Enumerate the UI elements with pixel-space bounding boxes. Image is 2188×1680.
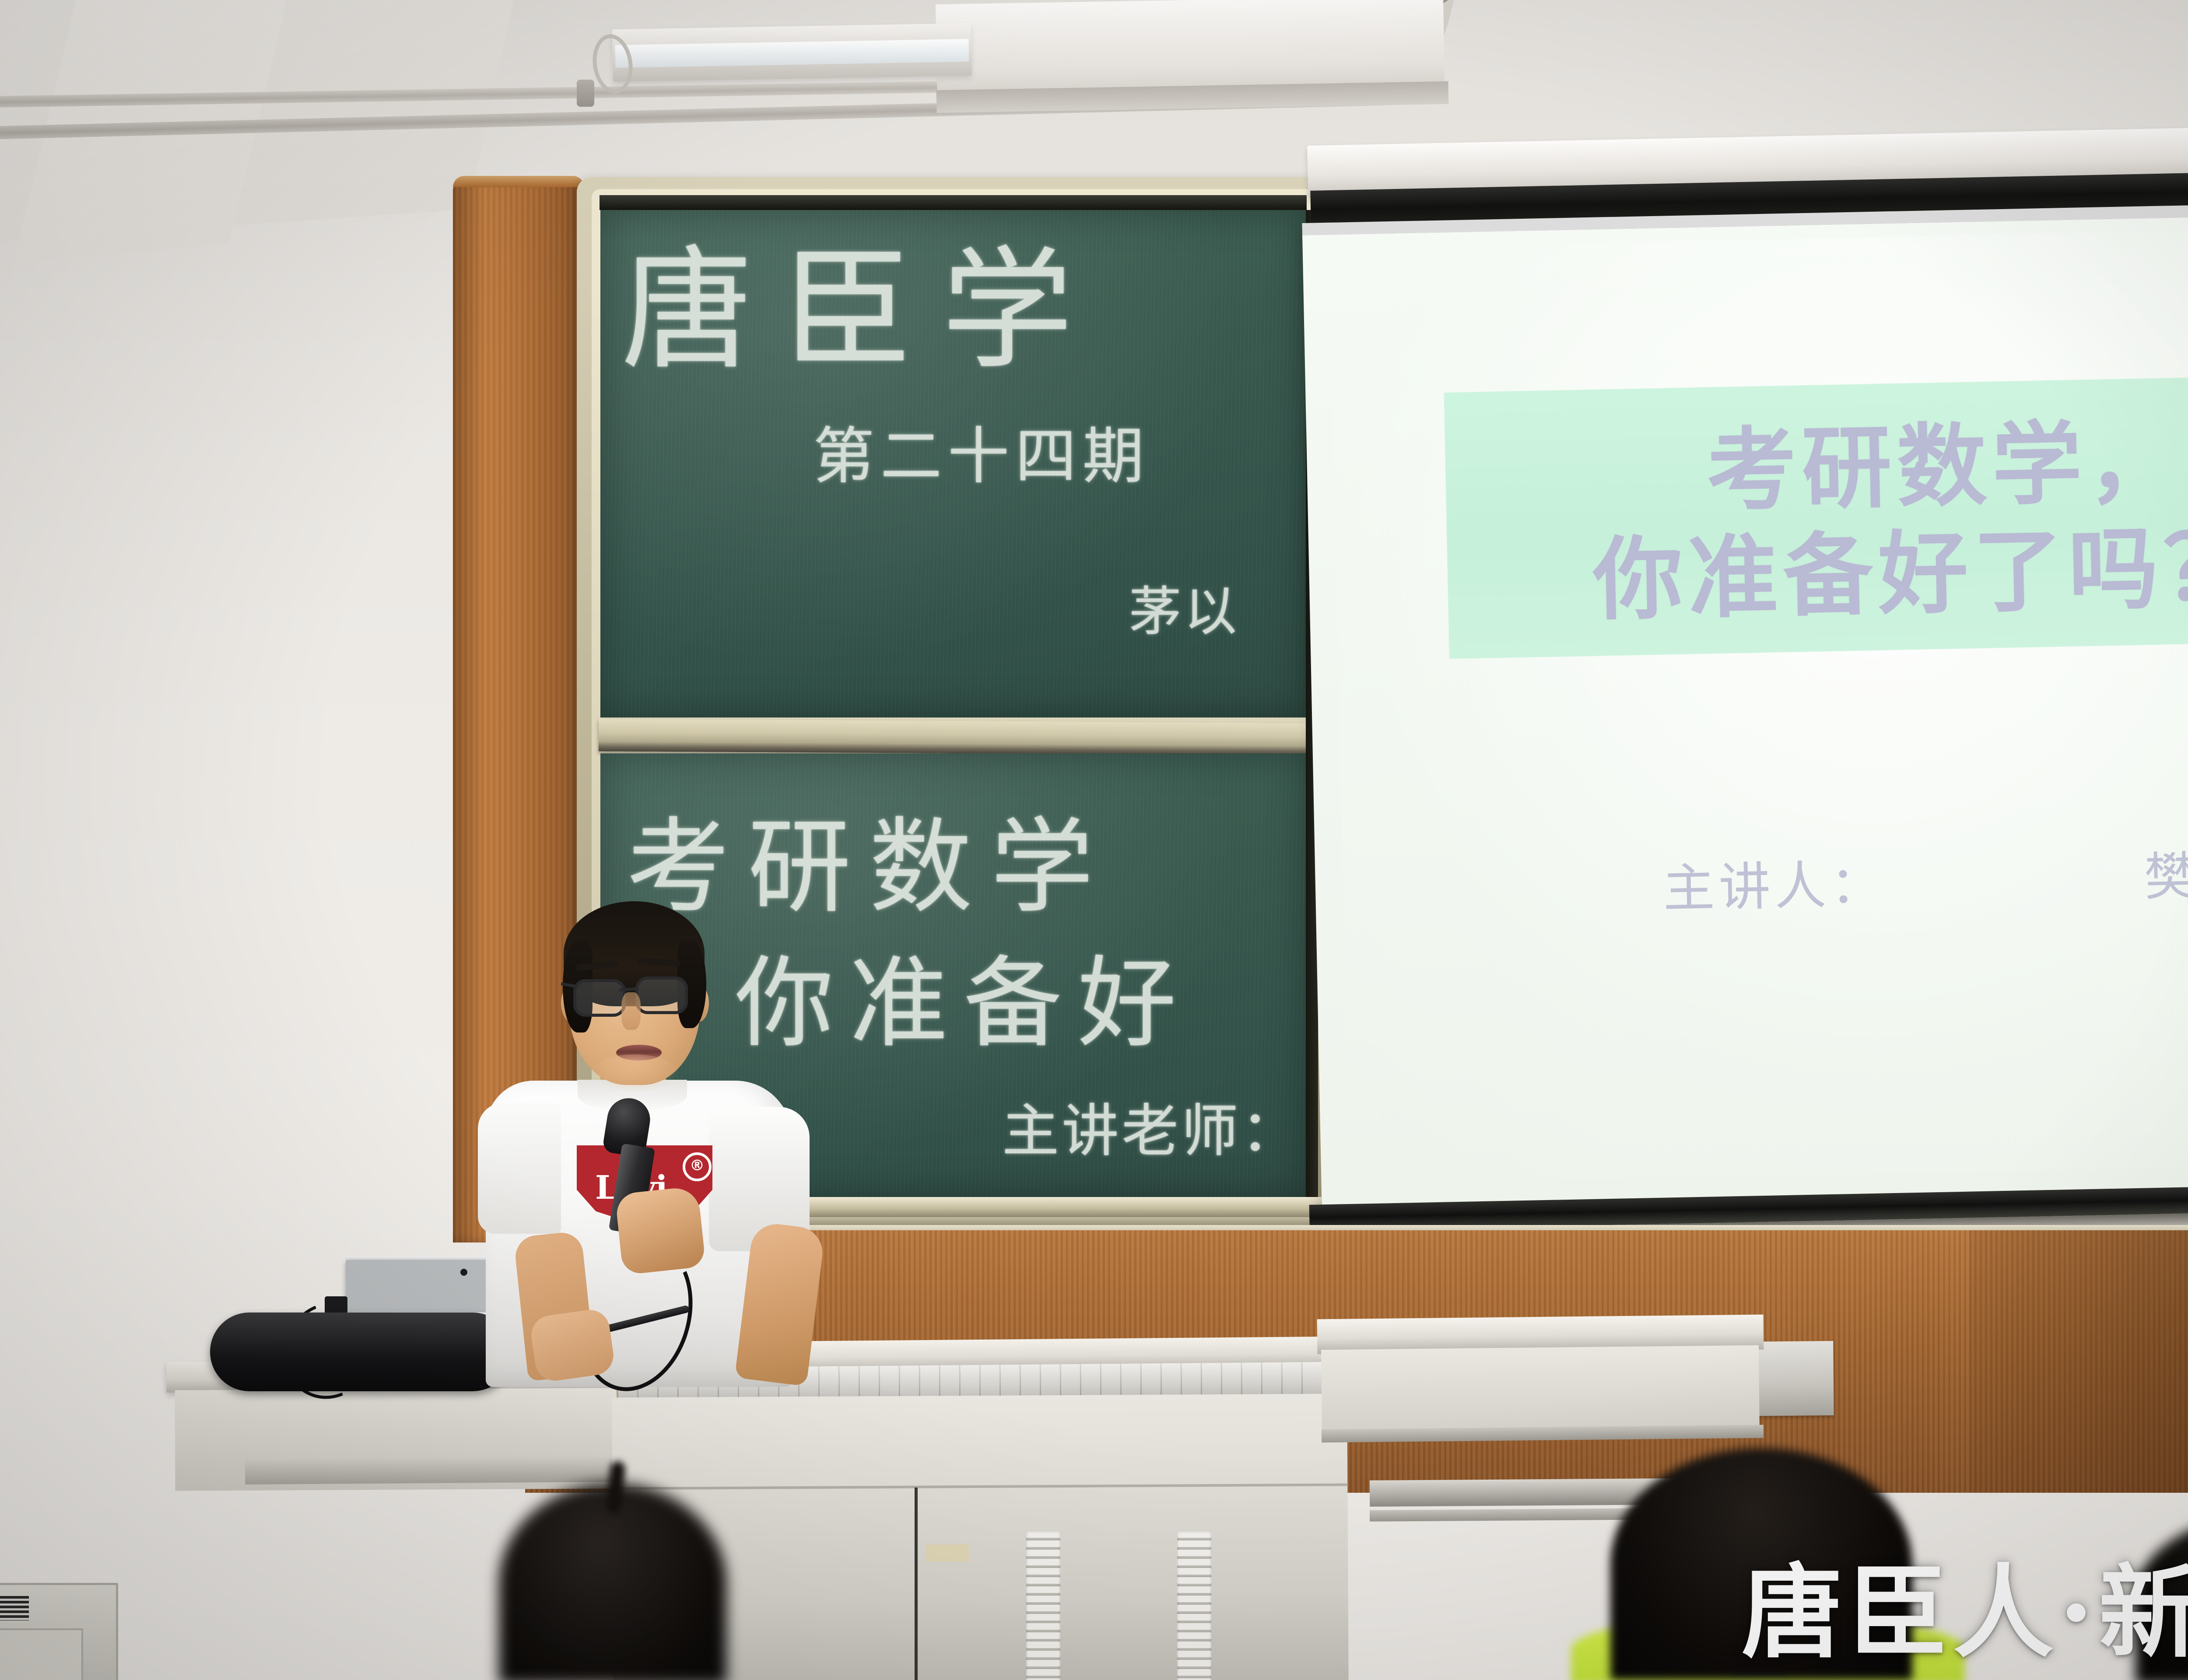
wainscot-shadow bbox=[1969, 1230, 2188, 1493]
presenter-hand-left bbox=[529, 1307, 616, 1383]
usb-dongle bbox=[325, 1296, 347, 1314]
registered-trademark-icon: ® bbox=[683, 1152, 712, 1181]
chalk-title: 唐臣学 bbox=[621, 245, 1102, 376]
podium-sticker bbox=[926, 1544, 969, 1562]
left-desk-rail bbox=[245, 1456, 621, 1484]
chalk-venue-text: 茅以 bbox=[1129, 569, 1239, 645]
chalkboard-middle-ledge bbox=[599, 719, 1308, 756]
presenter-nose bbox=[621, 992, 641, 1030]
cabinet-grille bbox=[0, 1596, 29, 1620]
chalk-speaker-label: 主讲老师： bbox=[1002, 1085, 1301, 1167]
cabinet-door[interactable] bbox=[0, 1628, 83, 1680]
podium-vent-left bbox=[1026, 1531, 1060, 1680]
projector-light-glow bbox=[1330, 225, 2188, 1184]
slide-speaker-label: 主讲人： bbox=[1662, 842, 1886, 921]
laptop-bag bbox=[210, 1312, 512, 1391]
chalkboard-top-lip bbox=[600, 195, 1307, 210]
slide-title-line-2: 你准备好了吗？ bbox=[1592, 494, 2188, 637]
slide-speaker-name: 樊明书 bbox=[2143, 832, 2188, 910]
presenter-chin-highlight bbox=[591, 1054, 678, 1091]
tablet-camera-icon bbox=[460, 1269, 467, 1276]
podium-vent-right bbox=[1177, 1531, 1211, 1680]
wood-pillar-cap bbox=[453, 176, 584, 187]
presenter-shoulder-left bbox=[478, 1102, 561, 1234]
watermark-text: 唐臣人·新传媒 bbox=[1742, 1531, 2188, 1677]
eyeglasses-lens-right bbox=[635, 976, 688, 1014]
conduit-clamp bbox=[577, 80, 594, 107]
podium-door-seam bbox=[915, 1487, 918, 1680]
eyeglasses-lens-left bbox=[573, 979, 626, 1017]
chalk-issue-number: 第二十四期 bbox=[813, 407, 1150, 495]
right-console-body bbox=[1321, 1345, 1760, 1437]
lecture-hall-photo: 唐臣学 第二十四期 茅以 考研数学 你准备好 主讲老师： 考研数学， 你准备好了… bbox=[0, 0, 2188, 1680]
